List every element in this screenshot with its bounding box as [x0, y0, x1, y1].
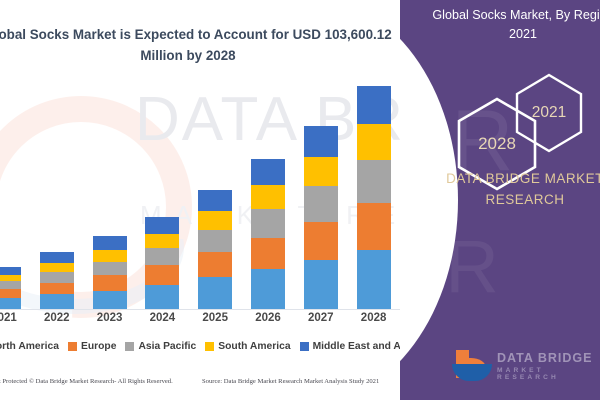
hexagon-2021-label: 2021	[532, 104, 566, 122]
legend-item-europe[interactable]: Europe	[68, 341, 116, 352]
logo-mark-swoosh	[452, 364, 492, 381]
plot-area	[0, 78, 432, 310]
x-axis-label-2021: 2021	[0, 312, 31, 324]
panel-brand-text: DATA BRIDGE MARKET RESEARCH	[410, 168, 600, 210]
x-axis-label-2026: 2026	[241, 312, 295, 324]
footer-copyright: Copyright Protected © Data Bridge Market…	[0, 378, 173, 385]
legend-label: Europe	[81, 341, 116, 352]
x-axis-label-2023: 2023	[83, 312, 137, 324]
bar-2023[interactable]	[93, 236, 127, 309]
legend-label: South America	[218, 341, 290, 352]
bar-segment-north-america[interactable]	[40, 294, 74, 309]
legend-swatch-icon	[125, 342, 134, 351]
panel-brand-line2: RESEARCH	[410, 189, 600, 210]
bar-segment-north-america[interactable]	[145, 285, 179, 309]
bar-segment-europe[interactable]	[93, 275, 127, 291]
legend-label: Asia Pacific	[138, 341, 196, 352]
bar-segment-south-america[interactable]	[40, 263, 74, 272]
bar-segment-europe[interactable]	[145, 265, 179, 285]
bar-segment-south-america[interactable]	[251, 185, 285, 209]
chart-pane: DATA BRIDGE MARKET RESEARCH Global Socks…	[0, 0, 432, 400]
bar-segment-asia-pacific[interactable]	[93, 262, 127, 275]
bar-segment-south-america[interactable]	[93, 250, 127, 262]
bar-segment-south-america[interactable]	[198, 211, 232, 229]
bar-2021[interactable]	[0, 267, 21, 309]
bar-segment-middle-east-and-africa[interactable]	[251, 159, 285, 185]
bar-segment-north-america[interactable]	[198, 277, 232, 309]
x-axis-label-2028: 2028	[347, 312, 401, 324]
legend-item-south-america[interactable]: South America	[205, 341, 290, 352]
page-title: Global Socks Market is Expected to Accou…	[0, 24, 398, 66]
bar-segment-south-america[interactable]	[357, 124, 391, 160]
bar-segment-asia-pacific[interactable]	[198, 230, 232, 252]
bar-segment-europe[interactable]	[304, 222, 338, 260]
bar-segment-middle-east-and-africa[interactable]	[198, 190, 232, 211]
bar-segment-europe[interactable]	[198, 252, 232, 277]
bar-segment-north-america[interactable]	[0, 298, 21, 309]
hexagon-2021: 2021	[512, 72, 586, 154]
screenshot-stage: DATA BRIDGE MARKET RESEARCH Global Socks…	[0, 0, 600, 400]
bar-segment-asia-pacific[interactable]	[40, 272, 74, 283]
panel-brand-line1: DATA BRIDGE MARKET	[410, 168, 600, 189]
x-axis-label-2025: 2025	[188, 312, 242, 324]
bar-segment-europe[interactable]	[40, 283, 74, 295]
bar-segment-north-america[interactable]	[251, 269, 285, 309]
bar-segment-asia-pacific[interactable]	[0, 281, 21, 289]
bar-segment-south-america[interactable]	[304, 157, 338, 186]
data-bridge-logo: DATA BRIDGE MARKET RESEARCH	[450, 348, 600, 382]
x-axis-label-2027: 2027	[294, 312, 348, 324]
bar-segment-south-america[interactable]	[0, 275, 21, 282]
bar-segment-north-america[interactable]	[304, 260, 338, 309]
bar-segment-asia-pacific[interactable]	[304, 186, 338, 222]
x-axis-label-2022: 2022	[30, 312, 84, 324]
bar-2025[interactable]	[198, 190, 232, 309]
brand-panel: BR BR Global Socks Market, By Region 202…	[400, 0, 600, 400]
bar-segment-asia-pacific[interactable]	[145, 248, 179, 265]
bar-segment-middle-east-and-africa[interactable]	[40, 252, 74, 263]
bar-segment-north-america[interactable]	[357, 250, 391, 309]
bar-segment-middle-east-and-africa[interactable]	[93, 236, 127, 249]
bar-segment-europe[interactable]	[0, 289, 21, 298]
panel-title: Global Socks Market, By Region 2021	[418, 6, 600, 44]
bar-segment-middle-east-and-africa[interactable]	[304, 126, 338, 158]
bar-segment-middle-east-and-africa[interactable]	[0, 267, 21, 275]
footer-source: Source: Data Bridge Market Research Mark…	[202, 378, 379, 385]
bar-segment-middle-east-and-africa[interactable]	[145, 217, 179, 234]
legend-item-asia-pacific[interactable]: Asia Pacific	[125, 341, 196, 352]
hexagon-2028-label: 2028	[478, 134, 516, 154]
bar-segment-asia-pacific[interactable]	[357, 160, 391, 204]
bar-segment-europe[interactable]	[251, 238, 285, 270]
legend-swatch-icon	[300, 342, 309, 351]
x-axis-label-2024: 2024	[135, 312, 189, 324]
legend-label: North America	[0, 341, 59, 352]
legend-swatch-icon	[205, 342, 214, 351]
logo-text-secondary: MARKET RESEARCH	[497, 367, 600, 381]
logo-text-primary: DATA BRIDGE	[497, 351, 593, 365]
axis-baseline	[0, 309, 412, 310]
bar-segment-europe[interactable]	[357, 203, 391, 249]
bar-2022[interactable]	[40, 252, 74, 309]
bar-segment-north-america[interactable]	[93, 291, 127, 309]
bar-segment-south-america[interactable]	[145, 234, 179, 249]
legend-swatch-icon	[68, 342, 77, 351]
bar-segment-asia-pacific[interactable]	[251, 209, 285, 238]
legend-item-north-america[interactable]: North America	[0, 341, 59, 352]
bar-2027[interactable]	[304, 126, 338, 309]
chart-legend: North AmericaEuropeAsia PacificSouth Ame…	[0, 341, 414, 352]
bar-segment-middle-east-and-africa[interactable]	[357, 86, 391, 124]
x-axis-labels: 20212022202320242025202620272028	[0, 312, 432, 330]
bar-2026[interactable]	[251, 159, 285, 309]
bar-2024[interactable]	[145, 217, 179, 309]
bar-2028[interactable]	[357, 86, 391, 309]
